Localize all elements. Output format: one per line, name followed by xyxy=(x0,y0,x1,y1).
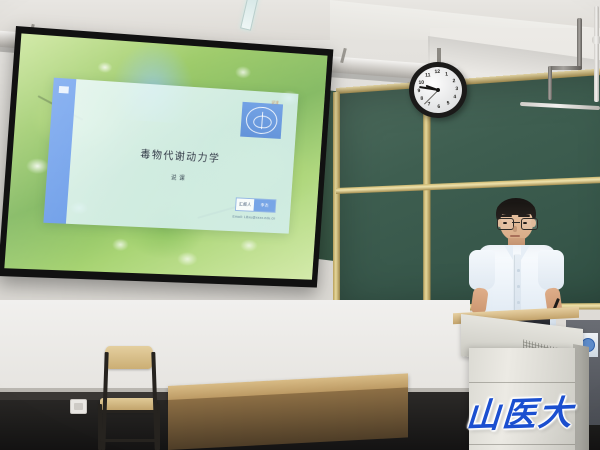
blackboard-frame-middle-h xyxy=(336,175,600,194)
shirt-collar-right xyxy=(521,245,530,260)
clock-numeral-4: 4 xyxy=(453,95,456,100)
clock-second-hand xyxy=(424,90,439,105)
clock-numeral-2: 2 xyxy=(452,79,455,84)
clock-center-pin xyxy=(436,88,440,92)
venue-watermark: 山医大 xyxy=(465,396,575,434)
slide-title: 毒物代谢动力学 xyxy=(98,144,260,168)
university-emblem-icon xyxy=(240,102,283,140)
projection-screen: 说课 毒物代谢动力学 说课 汇报人 李杰 Email: LBxu@xxxx.ed… xyxy=(0,26,333,288)
chair-rail-lower xyxy=(100,439,158,442)
slide-subtitle: 说课 xyxy=(97,169,259,186)
clock-numeral-6: 6 xyxy=(437,105,440,110)
podium-seam-lower xyxy=(469,444,575,445)
clock-numeral-5: 5 xyxy=(447,101,450,106)
shirt-button-1 xyxy=(517,269,520,272)
slide-presenter-box: 汇报人 李杰 xyxy=(235,197,277,212)
clock-numeral-12: 12 xyxy=(434,70,440,75)
eyebrow-left xyxy=(500,215,512,217)
blackboard-frame-left xyxy=(333,92,340,310)
classroom-photo: 12 1 2 3 4 5 6 7 8 9 10 11 xyxy=(0,0,600,450)
podium-seam-upper xyxy=(469,382,575,383)
glasses-lens-right xyxy=(521,218,538,230)
clock-face: 12 1 2 3 4 5 6 7 8 9 10 11 xyxy=(413,66,463,114)
slide-corner-mark: 说课 xyxy=(271,99,279,105)
clock-numeral-7: 7 xyxy=(428,102,431,107)
slide-accent-mark xyxy=(59,86,70,94)
hair-fringe xyxy=(497,202,535,215)
clock-numeral-1: 1 xyxy=(445,72,448,77)
classroom-chair[interactable] xyxy=(96,346,162,450)
clock-numeral-8: 8 xyxy=(420,97,423,102)
ceiling-pipe-dark-horizontal xyxy=(548,66,582,70)
wall-power-outlet-left[interactable] xyxy=(70,399,87,414)
pipe-coupling xyxy=(592,36,600,44)
slide-presenter-name: 李杰 xyxy=(254,199,276,211)
ceiling-pipe-white xyxy=(594,6,599,102)
chair-rail-seat xyxy=(100,410,158,413)
slide-email: Email: LBxu@xxxx.edu.cn xyxy=(232,214,275,220)
shirt-sleeve-left xyxy=(469,250,495,290)
ceiling-pipe-dark-vertical xyxy=(577,18,582,70)
nose xyxy=(513,226,517,232)
eyebrow-right xyxy=(518,215,530,217)
glasses-bridge xyxy=(512,222,520,223)
clock-numeral-3: 3 xyxy=(455,87,458,92)
blackboard-frame-mid xyxy=(423,85,430,309)
ceiling-pipe-dark-drop xyxy=(548,66,552,100)
slide-presenter-label: 汇报人 xyxy=(236,198,255,210)
slide-content-card: 说课 毒物代谢动力学 说课 汇报人 李杰 Email: LBxu@xxxx.ed… xyxy=(43,78,298,234)
shirt-sleeve-right xyxy=(538,250,564,290)
glasses-lens-left xyxy=(497,218,514,230)
chair-seat xyxy=(100,398,157,410)
shirt-collar-left xyxy=(504,245,513,260)
slide-surface: 说课 毒物代谢动力学 说课 汇报人 李杰 Email: LBxu@xxxx.ed… xyxy=(4,33,327,279)
podium-side-panel xyxy=(573,344,589,450)
wooden-desk[interactable] xyxy=(168,386,408,450)
clock-numeral-9: 9 xyxy=(417,89,420,94)
clock-numeral-11: 11 xyxy=(425,73,431,78)
mouth xyxy=(510,235,520,237)
shirt-button-2 xyxy=(517,285,520,288)
chair-backrest xyxy=(105,346,153,369)
